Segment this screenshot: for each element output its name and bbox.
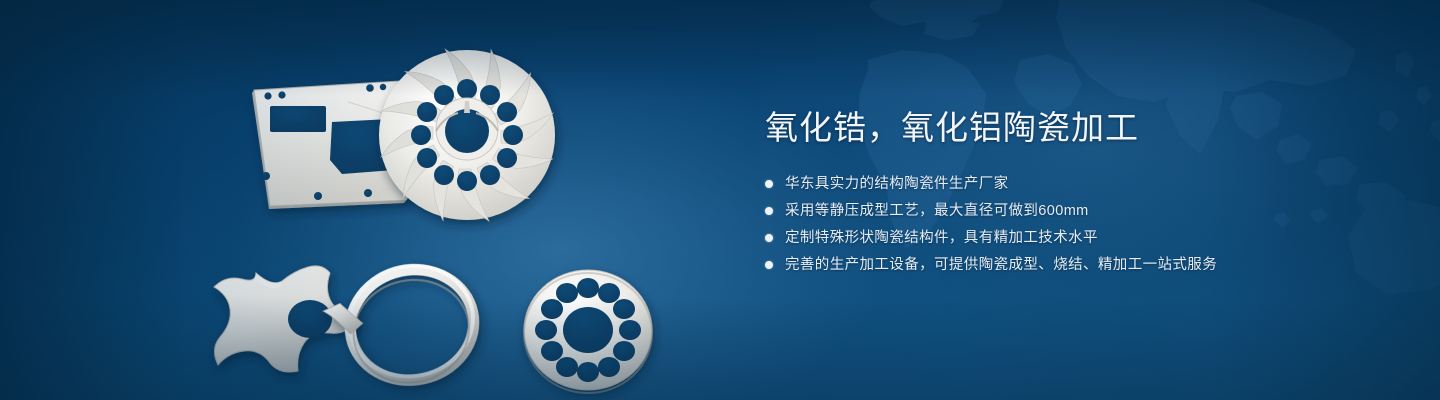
bullet-dot-icon [765, 207, 773, 215]
list-item: 华东具实力的结构陶瓷件生产厂家 [765, 173, 1325, 195]
feature-text: 采用等静压成型工艺，最大直径可做到600mm [785, 200, 1089, 222]
product-ceramic-impeller [379, 49, 555, 221]
hero-banner: 氧化锆，氧化铝陶瓷加工 华东具实力的结构陶瓷件生产厂家 采用等静压成型工艺，最大… [0, 0, 1440, 400]
banner-copy: 氧化锆，氧化铝陶瓷加工 华东具实力的结构陶瓷件生产厂家 采用等静压成型工艺，最大… [765, 108, 1325, 281]
list-item: 采用等静压成型工艺，最大直径可做到600mm [765, 200, 1325, 222]
ceramic-products-image [230, 40, 700, 370]
feature-text: 定制特殊形状陶瓷结构件，具有精加工技术水平 [785, 227, 1098, 249]
bullet-dot-icon [765, 180, 773, 188]
feature-text: 完善的生产加工设备，可提供陶瓷成型、烧结、精加工一站式服务 [785, 254, 1217, 276]
banner-feature-list: 华东具实力的结构陶瓷件生产厂家 采用等静压成型工艺，最大直径可做到600mm 定… [765, 173, 1325, 276]
list-item: 完善的生产加工设备，可提供陶瓷成型、烧结、精加工一站式服务 [765, 254, 1325, 276]
bullet-dot-icon [765, 234, 773, 242]
banner-headline: 氧化锆，氧化铝陶瓷加工 [765, 108, 1325, 148]
bullet-dot-icon [765, 261, 773, 269]
list-item: 定制特殊形状陶瓷结构件，具有精加工技术水平 [765, 227, 1325, 249]
product-ceramic-disc [524, 270, 652, 393]
feature-text: 华东具实力的结构陶瓷件生产厂家 [785, 173, 1009, 195]
